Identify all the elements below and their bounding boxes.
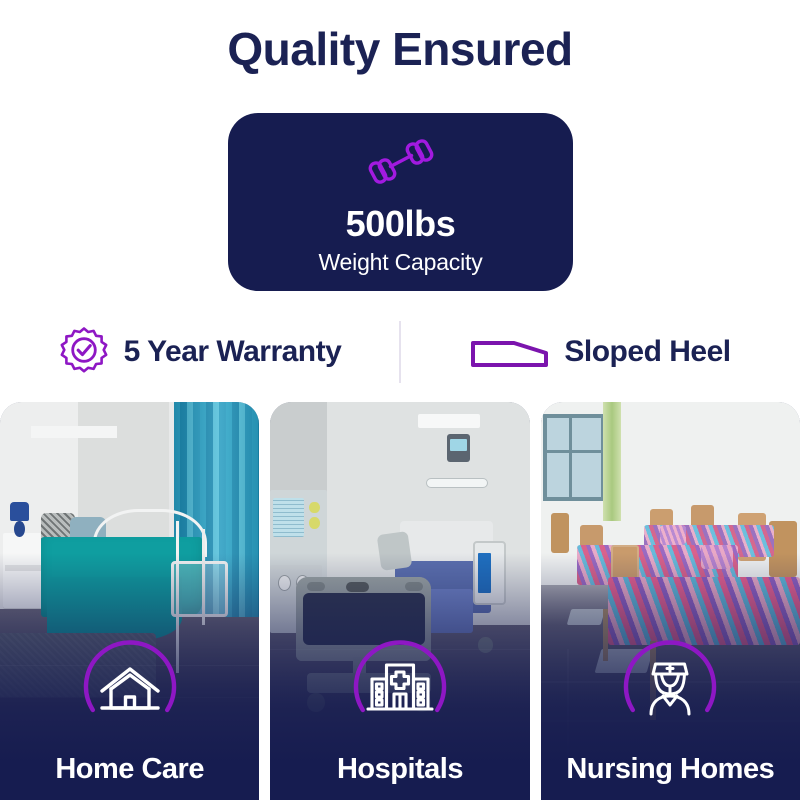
sloped-heel-wedge-icon — [470, 334, 550, 370]
hospitals-badge — [348, 634, 452, 738]
feature-sloped-heel-label: Sloped Heel — [564, 335, 730, 369]
feature-warranty: 5 Year Warranty — [0, 326, 399, 378]
use-case-panels: Home Care — [0, 402, 800, 800]
home-care-badge — [78, 634, 182, 738]
weight-capacity-caption: Weight Capacity — [318, 247, 482, 277]
home-care-label: Home Care — [0, 753, 259, 786]
warranty-badge-check-icon — [58, 326, 110, 378]
dumbbell-icon — [363, 135, 439, 187]
quality-ensured-infographic: Quality Ensured 500lbs Weight Capacity — [0, 0, 800, 800]
hospitals-label: Hospitals — [270, 753, 529, 786]
nursing-homes-badge — [618, 634, 722, 738]
feature-warranty-label: 5 Year Warranty — [124, 335, 342, 369]
panel-home-care[interactable]: Home Care — [0, 402, 259, 800]
feature-row: 5 Year Warranty Sloped Heel — [0, 312, 800, 392]
panel-nursing-homes[interactable]: Nursing Homes — [541, 402, 800, 800]
weight-capacity-card: 500lbs Weight Capacity — [228, 113, 573, 291]
page-title: Quality Ensured — [0, 20, 800, 78]
nursing-homes-label: Nursing Homes — [541, 753, 800, 786]
panel-hospitals[interactable]: Hospitals — [270, 402, 529, 800]
feature-sloped-heel: Sloped Heel — [401, 334, 800, 370]
weight-capacity-value: 500lbs — [346, 203, 456, 245]
